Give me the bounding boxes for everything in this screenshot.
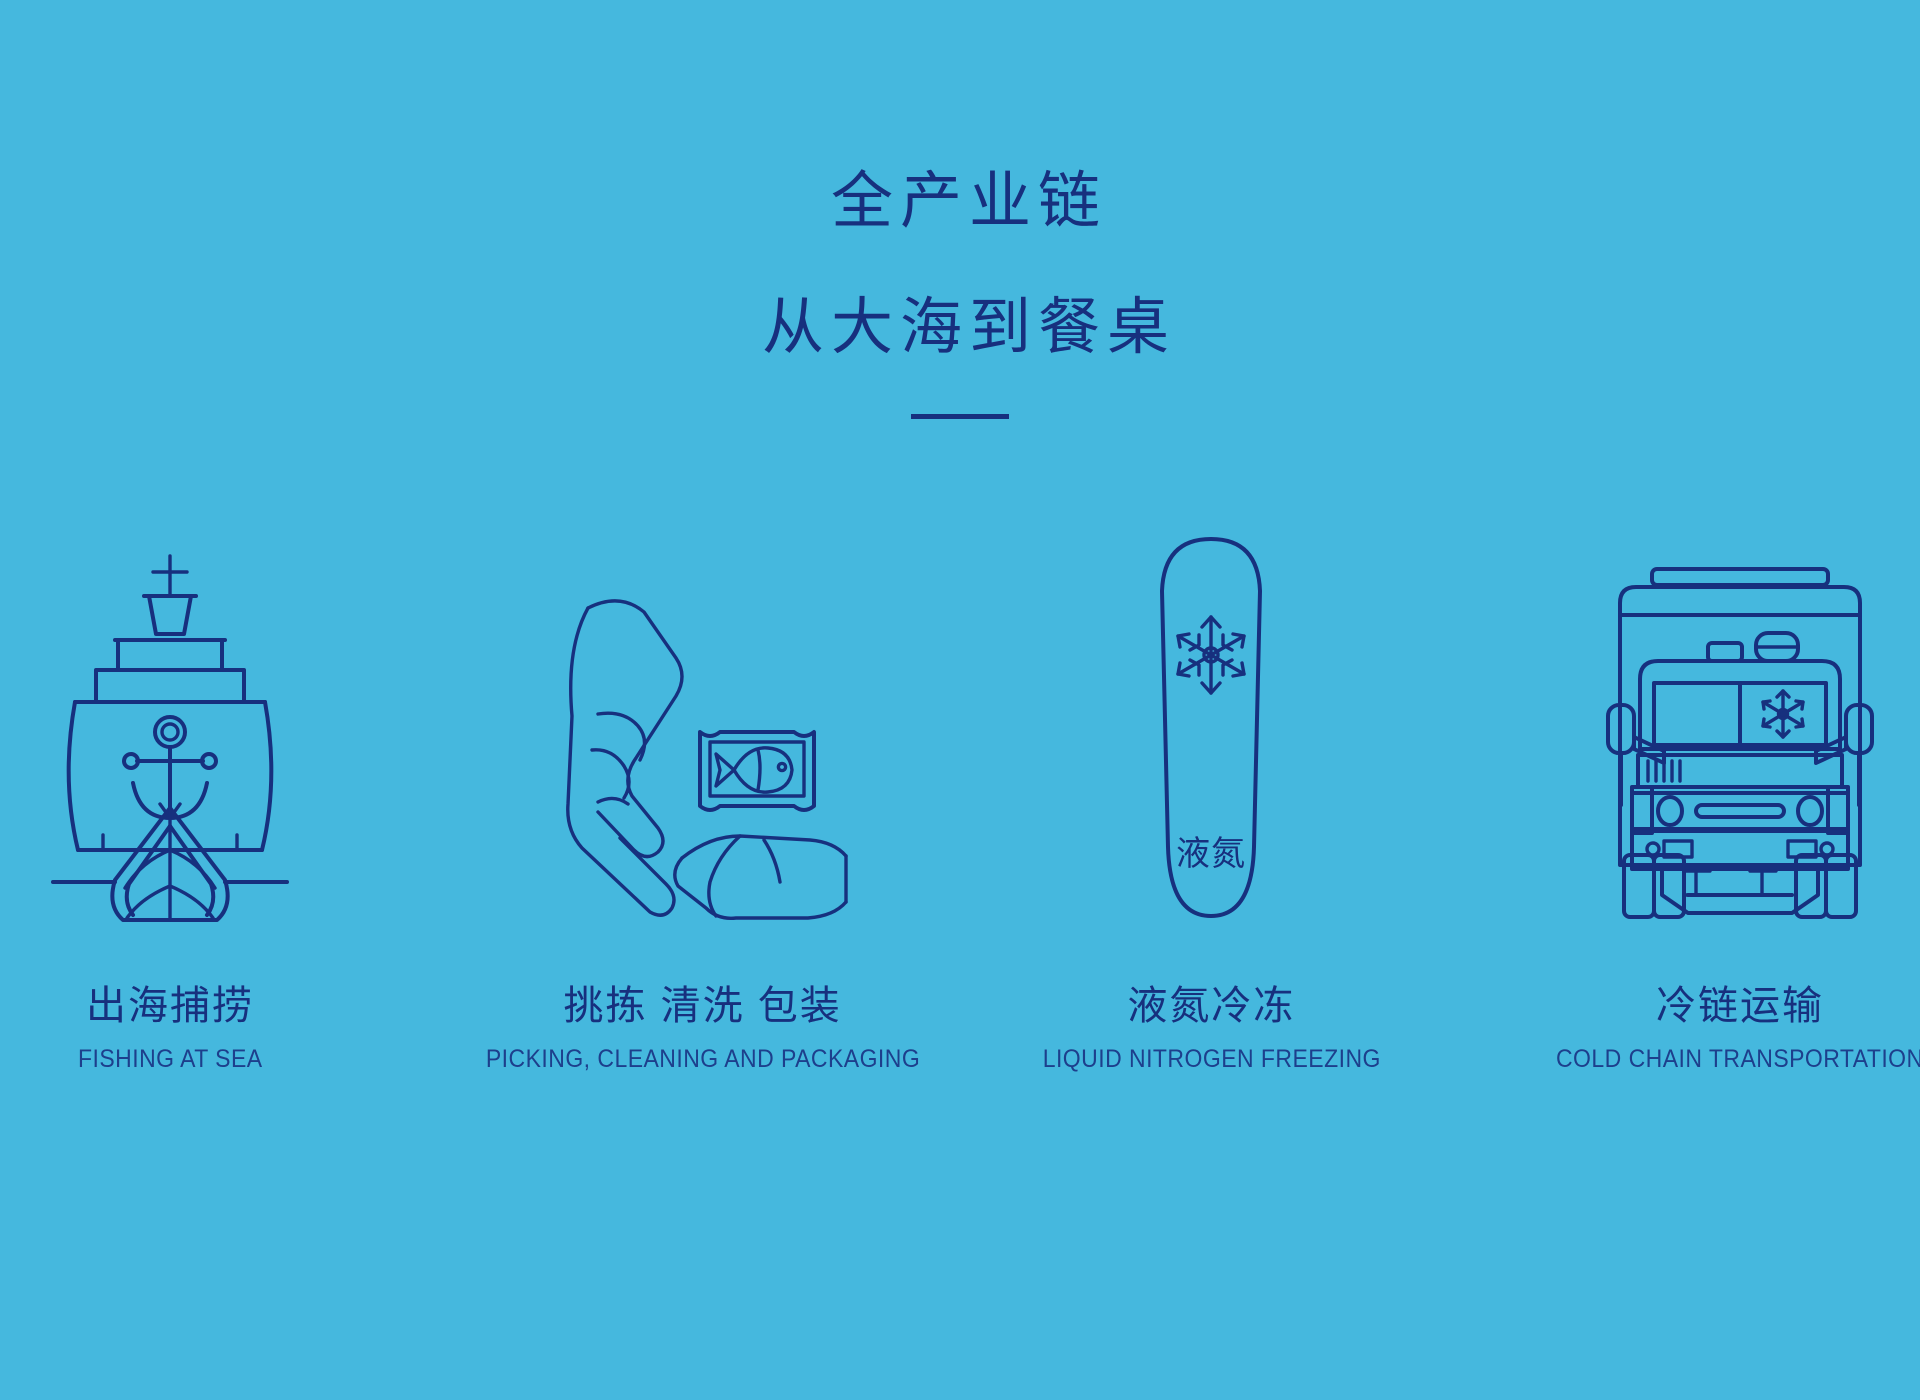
step-labels: 挑拣 清洗 包装 PICKING, CLEANING AND PACKAGING <box>467 982 939 1074</box>
step-picking-cleaning-packaging[interactable]: 挑拣 清洗 包装 PICKING, CLEANING AND PACKAGING <box>483 520 923 1074</box>
page-title-line-2: 从大海到餐桌 <box>18 296 1920 358</box>
step-cold-chain-transportation[interactable]: 冷链运输 COLD CHAIN TRANSPORTATION <box>1520 520 1920 1074</box>
step-label-en: FISHING AT SEA <box>78 1044 263 1074</box>
title-divider <box>911 414 1009 419</box>
liquid-nitrogen-tank-icon: 液氮 <box>1136 520 1286 920</box>
step-fishing-at-sea[interactable]: 出海捕捞 FISHING AT SEA <box>0 520 390 1074</box>
step-labels: 冷链运输 COLD CHAIN TRANSPORTATION <box>1540 982 1920 1074</box>
page-title-block: 全产业链 从大海到餐桌 <box>0 170 1920 419</box>
process-steps-row: 出海捕捞 FISHING AT SEA <box>0 520 1920 1074</box>
infographic-page: 全产业链 从大海到餐桌 <box>0 0 1920 1400</box>
tank-caption: 液氮 <box>1176 835 1246 873</box>
step-labels: 出海捕捞 FISHING AT SEA <box>70 982 271 1074</box>
page-title-line-1: 全产业链 <box>18 170 1920 232</box>
step-liquid-nitrogen-freezing[interactable]: 液氮 液氮冷冻 LIQUID NITROGEN FREEZING <box>991 520 1431 1074</box>
step-labels: 液氮冷冻 LIQUID NITROGEN FREEZING <box>1028 982 1396 1074</box>
hands-packaged-fish-icon <box>558 520 848 920</box>
step-label-cn: 挑拣 清洗 包装 <box>467 982 939 1030</box>
snowflake-icon <box>1178 617 1244 693</box>
step-label-cn: 出海捕捞 <box>70 982 271 1030</box>
refrigerated-truck-icon <box>1600 520 1880 920</box>
step-label-en: PICKING, CLEANING AND PACKAGING <box>485 1044 919 1074</box>
step-label-cn: 冷链运输 <box>1540 982 1920 1030</box>
fishing-boat-icon <box>45 520 295 920</box>
step-label-en: COLD CHAIN TRANSPORTATION <box>1556 1044 1920 1074</box>
step-label-en: LIQUID NITROGEN FREEZING <box>1042 1044 1380 1074</box>
snowflake-icon <box>1763 691 1803 737</box>
step-label-cn: 液氮冷冻 <box>1028 982 1396 1030</box>
